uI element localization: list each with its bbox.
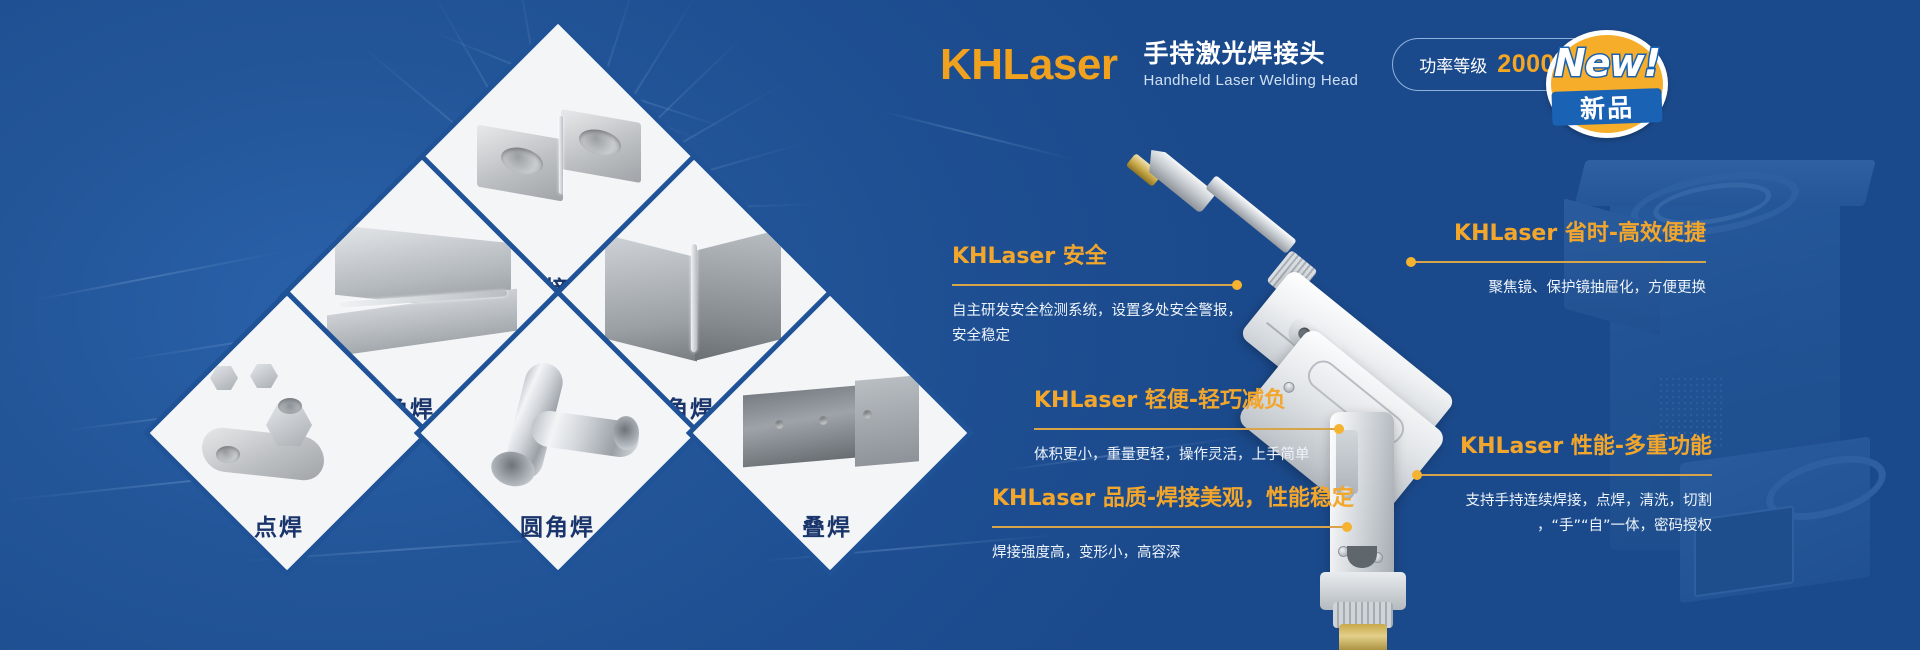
- feature-title-lightweight: KHLaser 轻便-轻巧减负: [1034, 382, 1344, 414]
- product-title-group: 手持激光焊接头 Handheld Laser Welding Head: [1143, 40, 1358, 90]
- feature-dot-lightweight: [1334, 424, 1344, 434]
- feature-rule-lightweight: [1034, 423, 1344, 435]
- feature-performance: KHLaser 性能-多重功能 支持手持连续焊接，点焊，清洗，切割 ，“手”“自…: [1412, 428, 1712, 540]
- feature-time-saving: KHLaser 省时-高效便捷 聚焦镜、保护镜抽屉化，方便更换: [1406, 215, 1706, 301]
- feature-rule-time-saving: [1406, 256, 1706, 268]
- new-badge-text-cn: 新品: [1551, 88, 1662, 126]
- weld-sample-label-lap: 叠焊: [802, 508, 852, 542]
- fillet-weld-artwork: [463, 358, 653, 508]
- feature-title-safety: KHLaser 安全: [952, 238, 1242, 270]
- feature-desc-performance-line1: 支持手持连续焊接，点焊，清洗，切割: [1412, 489, 1712, 514]
- feature-dot-quality: [1342, 522, 1352, 532]
- product-title-cn: 手持激光焊接头: [1143, 40, 1358, 69]
- feature-title-time-saving: KHLaser 省时-高效便捷: [1406, 215, 1706, 247]
- feature-rule-quality: [992, 521, 1352, 533]
- feature-rule-safety: [952, 279, 1242, 291]
- banner-header: KHLaser 手持激光焊接头 Handheld Laser Welding H…: [940, 38, 1606, 91]
- feature-dot-time-saving: [1406, 257, 1416, 267]
- feature-safety: KHLaser 安全 自主研发安全检测系统，设置多处安全警报， 安全稳定: [952, 238, 1242, 350]
- weld-sample-collage: 对接焊 阴角焊 阳角焊: [188, 42, 928, 602]
- feature-desc-lightweight-line1: 体积更小，重量更轻，操作灵活，上手简单: [1034, 443, 1344, 468]
- feature-desc-time-saving-line1: 聚焦镜、保护镜抽屉化，方便更换: [1406, 276, 1706, 301]
- feature-dot-performance: [1412, 470, 1422, 480]
- inside-corner-artwork: [327, 222, 517, 372]
- product-banner: 对接焊 阴角焊 阳角焊: [0, 0, 1920, 650]
- new-product-badge: New! 新品: [1546, 30, 1668, 138]
- outside-corner-artwork: [599, 222, 789, 372]
- power-rating-label: 功率等级: [1419, 52, 1487, 77]
- butt-weld-artwork: [463, 86, 653, 236]
- feature-title-performance: KHLaser 性能-多重功能: [1412, 428, 1712, 460]
- feature-rule-performance: [1412, 469, 1712, 481]
- new-badge-text-en: New!: [1546, 44, 1668, 82]
- feature-desc-safety-line1: 自主研发安全检测系统，设置多处安全警报，: [952, 299, 1242, 324]
- feature-desc-quality-line1: 焊接强度高，变形小，高容深: [992, 541, 1352, 566]
- spot-weld-artwork: [192, 358, 382, 508]
- weld-sample-label-fillet: 圆角焊: [520, 508, 595, 542]
- feature-lightweight: KHLaser 轻便-轻巧减负 体积更小，重量更轻，操作灵活，上手简单: [1034, 382, 1344, 468]
- weld-sample-label-spot: 点焊: [254, 508, 304, 542]
- feature-dot-safety: [1232, 280, 1242, 290]
- lap-weld-artwork: [735, 358, 925, 508]
- feature-desc-performance-line2: ，“手”“自”一体，密码授权: [1412, 514, 1712, 539]
- product-title-en: Handheld Laser Welding Head: [1143, 72, 1358, 89]
- brand-logo: KHLaser: [940, 40, 1117, 90]
- feature-quality: KHLaser 品质-焊接美观，性能稳定 焊接强度高，变形小，高容深: [992, 480, 1352, 566]
- feature-desc-safety-line2: 安全稳定: [952, 324, 1242, 349]
- feature-title-quality: KHLaser 品质-焊接美观，性能稳定: [992, 480, 1352, 512]
